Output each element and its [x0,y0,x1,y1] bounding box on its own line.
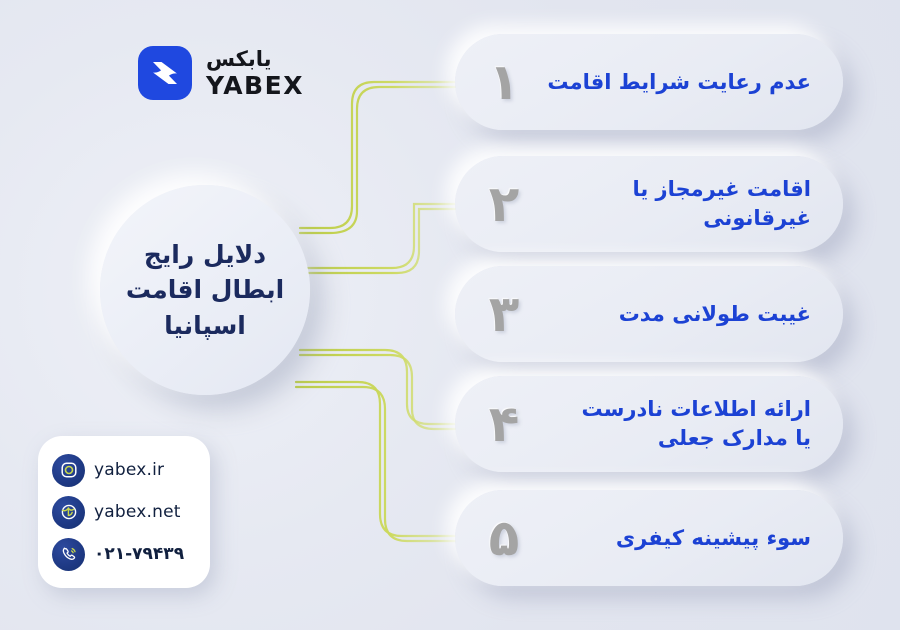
step-card-5-line-1: سوء پیشینه کیفری [535,524,811,553]
x-bird-glyph [147,55,183,91]
step-card-2-text: اقامت غیرمجاز یا غیرقانونی [535,175,817,233]
step-card-3-line-1: غیبت طولانی مدت [535,300,811,329]
contact-row-phone[interactable]: ۰۲۱-۷۹۴۳۹ [52,538,196,571]
contact-row-instagram[interactable]: yabex.ir [52,454,196,487]
brand-name-en: YABEX [206,73,304,98]
step-card-5-text: سوء پیشینه کیفری [535,524,817,553]
step-card-3-text: غیبت طولانی مدت [535,300,817,329]
step-card-4-number: ۴ [473,399,535,449]
yabex-x-bird-mark-icon [138,46,192,100]
step-card-1-line-1: عدم رعایت شرایط اقامت [535,68,811,97]
step-card-2[interactable]: اقامت غیرمجاز یا غیرقانونی ۲ [455,156,843,252]
step-card-4[interactable]: ارائه اطلاعات نادرست یا مدارک جعلی ۴ [455,376,843,472]
brand-name-fa: یابکس [206,49,272,70]
contact-instagram-value: yabex.ir [94,460,164,480]
center-title-line-3: اسپانیا [164,308,246,344]
step-card-1[interactable]: عدم رعایت شرایط اقامت ۱ [455,34,843,130]
phone-icon [52,538,85,571]
step-card-1-number: ۱ [473,57,535,107]
globe-website-icon [52,496,85,529]
contact-row-website[interactable]: yabex.net [52,496,196,529]
contact-card: yabex.ir yabex.net ۰۲۱-۷۹۴۳۹ [38,436,210,588]
step-card-1-text: عدم رعایت شرایط اقامت [535,68,817,97]
brand-wordmark: یابکس YABEX [206,49,304,98]
step-card-5-number: ۵ [473,513,535,563]
center-title-line-2: ابطال اقامت [126,272,284,308]
step-card-3-number: ۳ [473,289,535,339]
contact-phone-value: ۰۲۱-۷۹۴۳۹ [94,544,184,564]
step-card-2-number: ۲ [473,179,535,229]
brand-logo: یابکس YABEX [138,46,304,100]
step-card-5[interactable]: سوء پیشینه کیفری ۵ [455,490,843,586]
step-card-4-line-1: ارائه اطلاعات نادرست [535,395,811,424]
step-card-4-text: ارائه اطلاعات نادرست یا مدارک جعلی [535,395,817,453]
infographic-canvas: یابکس YABEX دلایل رایج ابطال اقامت اسپان… [0,0,900,630]
step-card-3[interactable]: غیبت طولانی مدت ۳ [455,266,843,362]
instagram-icon [52,454,85,487]
center-topic-circle: دلایل رایج ابطال اقامت اسپانیا [100,185,310,395]
contact-website-value: yabex.net [94,502,181,522]
step-card-2-line-1: اقامت غیرمجاز یا غیرقانونی [535,175,811,233]
step-card-4-line-2: یا مدارک جعلی [535,424,811,453]
center-title-line-1: دلایل رایج [144,237,266,273]
